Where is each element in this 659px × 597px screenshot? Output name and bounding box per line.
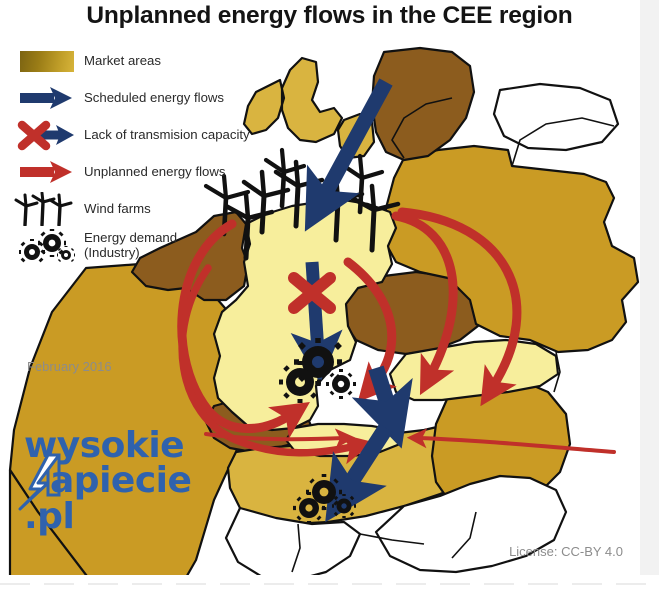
blue-germany-to-slovakia (376, 368, 390, 412)
lightning-bolt-icon (18, 453, 70, 511)
page-title: Unplanned energy flows in the CEE region (0, 2, 659, 30)
legend-item-unplanned-flows: Unplanned energy flows (14, 155, 276, 189)
bottom-dashed-divider (0, 583, 659, 585)
region-baltic (494, 84, 618, 150)
blue-arrow-icon (14, 81, 76, 115)
legend-label: Wind farms (76, 202, 151, 217)
legend-label: Lack of transmision capacity (76, 128, 250, 143)
infographic-canvas: Unplanned energy flows in the CEE region… (0, 0, 659, 597)
region-sweden (372, 48, 474, 160)
legend-label: Scheduled energy flows (76, 91, 224, 106)
bottom-gutter (0, 575, 659, 597)
legend-label: Unplanned energy flows (76, 165, 226, 180)
blue-sweden-to-germany (322, 82, 386, 200)
map-legend: Market areas Scheduled energy flows (14, 44, 276, 266)
legend-item-market-areas: Market areas (14, 44, 276, 78)
right-gutter (640, 0, 659, 597)
market-area-swatch-icon (14, 44, 76, 78)
logo-line-2: apiecie (24, 463, 224, 498)
logo-line-2-text: apiecie (50, 460, 191, 501)
legend-item-scheduled-flows: Scheduled energy flows (14, 81, 276, 115)
wysokie-napiecie-logo[interactable]: wysokie apiecie .pl (24, 428, 224, 534)
legend-item-wind-farms: Wind farms (14, 192, 276, 226)
legend-label: Energy demand (Industry) (76, 231, 177, 261)
gears-icon (14, 229, 76, 263)
date-stamp: February 2016 (27, 359, 112, 374)
red-arrow-icon (14, 155, 76, 189)
legend-item-lack-of-capacity: Lack of transmision capacity (14, 118, 276, 152)
wind-turbine-icon (14, 192, 76, 226)
legend-item-energy-demand: Energy demand (Industry) (14, 229, 276, 263)
license-text: License: CC-BY 4.0 (509, 544, 623, 559)
legend-label: Market areas (76, 54, 161, 69)
x-over-blue-arrow-icon (14, 118, 76, 152)
